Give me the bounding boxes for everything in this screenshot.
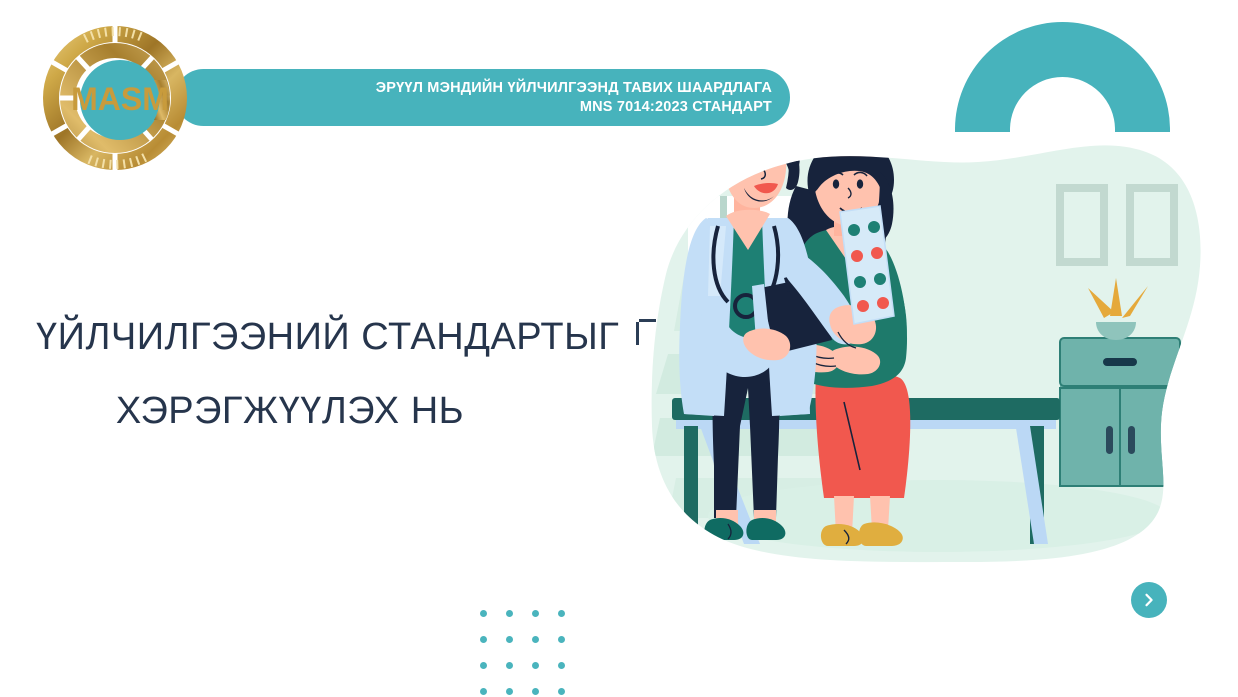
grid-dot — [506, 610, 513, 617]
title-line-1: ҮЙЛЧИЛГЭЭНИЙ СТАНДАРТЫГ — [36, 300, 676, 374]
banner-line-2: MNS 7014:2023 СТАНДАРТ — [580, 98, 772, 117]
title-line-2: ХЭРЭГЖҮҮЛЭХ НЬ — [36, 374, 676, 448]
logo-wordmark: MASM — [71, 81, 169, 117]
chevron-right-icon — [1142, 593, 1156, 607]
grid-dot — [558, 636, 565, 643]
grid-dot — [506, 636, 513, 643]
decorative-arch — [955, 22, 1170, 132]
clinic-illustration — [648, 126, 1208, 576]
grid-dot — [506, 662, 513, 669]
grid-dot — [480, 662, 487, 669]
grid-dot — [532, 610, 539, 617]
grid-dot — [532, 636, 539, 643]
grid-dot — [558, 610, 565, 617]
grid-dot — [480, 688, 487, 695]
masm-logo: MASM — [40, 24, 190, 172]
page-title: ҮЙЛЧИЛГЭЭНИЙ СТАНДАРТЫГ ХЭРЭГЖҮҮЛЭХ НЬ — [36, 300, 676, 448]
header: ЭРҮҮЛ МЭНДИЙН ҮЙЛЧИЛГЭЭНД ТАВИХ ШААРДЛАГ… — [40, 24, 760, 172]
grid-dot — [558, 688, 565, 695]
standard-banner: ЭРҮҮЛ МЭНДИЙН ҮЙЛЧИЛГЭЭНД ТАВИХ ШААРДЛАГ… — [175, 69, 790, 126]
grid-dot — [506, 688, 513, 695]
banner-line-1: ЭРҮҮЛ МЭНДИЙН ҮЙЛЧИЛГЭЭНД ТАВИХ ШААРДЛАГ… — [376, 79, 772, 98]
grid-dot — [532, 688, 539, 695]
grid-dot — [558, 662, 565, 669]
next-slide-button[interactable] — [1131, 582, 1167, 618]
cabinet — [1060, 338, 1180, 486]
presentation-slide: ЭРҮҮЛ МЭНДИЙН ҮЙЛЧИЛГЭЭНД ТАВИХ ШААРДЛАГ… — [0, 0, 1238, 697]
grid-dot — [480, 610, 487, 617]
grid-dot — [480, 636, 487, 643]
dot-grid-decoration — [480, 610, 564, 697]
grid-dot — [532, 662, 539, 669]
